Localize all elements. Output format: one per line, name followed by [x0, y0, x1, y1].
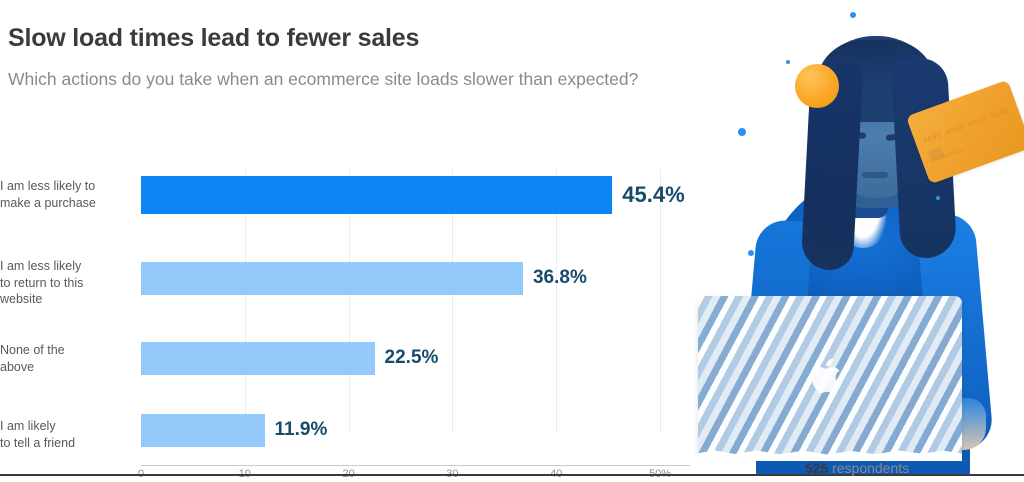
page-subtitle: Which actions do you take when an ecomme… — [8, 64, 698, 94]
bar-3 — [141, 342, 375, 375]
speckle-dot — [786, 60, 790, 64]
apple-logo-icon — [808, 354, 848, 398]
infographic-page: Slow load times lead to fewer sales Whic… — [0, 0, 1024, 482]
category-label-line: I am less likely to — [0, 178, 128, 195]
category-label-line: website — [0, 291, 128, 308]
page-title: Slow load times lead to fewer sales — [8, 24, 419, 53]
category-label-line: make a purchase — [0, 195, 128, 212]
speckle-dot — [748, 250, 754, 256]
value-label-2: 36.8% — [533, 267, 587, 289]
category-label: I am less likely tomake a purchase — [0, 178, 128, 211]
card-number: 0000 0000 0000 0000 — [922, 107, 1011, 146]
category-label-line: to return to this — [0, 275, 128, 292]
bar-4 — [141, 414, 265, 447]
respondents-count: 525 — [805, 460, 828, 476]
value-label-3: 22.5% — [385, 347, 439, 369]
bar-chart: I am less likely tomake a purchase45.4%I… — [0, 160, 690, 460]
speckle-dot — [738, 128, 746, 136]
category-label: I am less likelyto return to thiswebsite — [0, 258, 128, 308]
value-label-1: 45.4% — [622, 182, 684, 208]
orange-circle-decoration — [795, 64, 839, 108]
category-label-line: to tell a friend — [0, 435, 128, 452]
bar-1 — [141, 176, 612, 214]
category-label-line: I am less likely — [0, 258, 128, 275]
category-label-line: I am likely — [0, 418, 128, 435]
hero-photo — [690, 0, 1024, 474]
respondents-label: respondents — [828, 460, 909, 476]
category-label: None of theabove — [0, 342, 128, 375]
bar-2 — [141, 262, 523, 295]
laptop-graphic — [698, 296, 962, 456]
value-label-4: 11.9% — [275, 419, 328, 441]
speckle-dot — [850, 12, 856, 18]
gridline-50 — [660, 170, 661, 432]
speckle-dot — [936, 196, 940, 200]
respondents-caption: 525 respondents — [690, 460, 1024, 476]
subject-mouth — [862, 172, 888, 178]
category-label: I am likelyto tell a friend — [0, 418, 128, 451]
category-label-line: above — [0, 359, 128, 376]
category-label-line: None of the — [0, 342, 128, 359]
